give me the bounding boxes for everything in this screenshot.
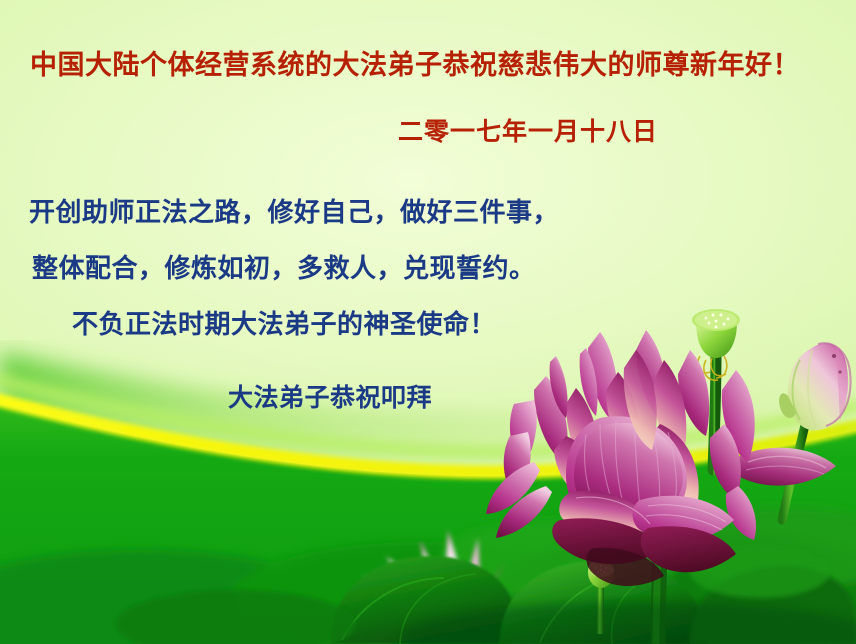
body-line-3: 不负正法时期大法弟子的神圣使命！ [72, 304, 496, 341]
greeting-card: 中国大陆个体经营系统的大法弟子恭祝慈悲伟大的师尊新年好！ 二零一七年一月十八日 … [0, 0, 856, 644]
signature-line: 大法弟子恭祝叩拜 [228, 378, 432, 414]
date-line: 二零一七年一月十八日 [398, 112, 658, 148]
body-line-1: 开创助师正法之路，修好自己，做好三件事， [29, 192, 559, 229]
headline-greeting: 中国大陆个体经营系统的大法弟子恭祝慈悲伟大的师尊新年好！ [30, 43, 800, 82]
body-line-2: 整体配合，修炼如初，多救人，兑现誓约。 [32, 248, 536, 285]
